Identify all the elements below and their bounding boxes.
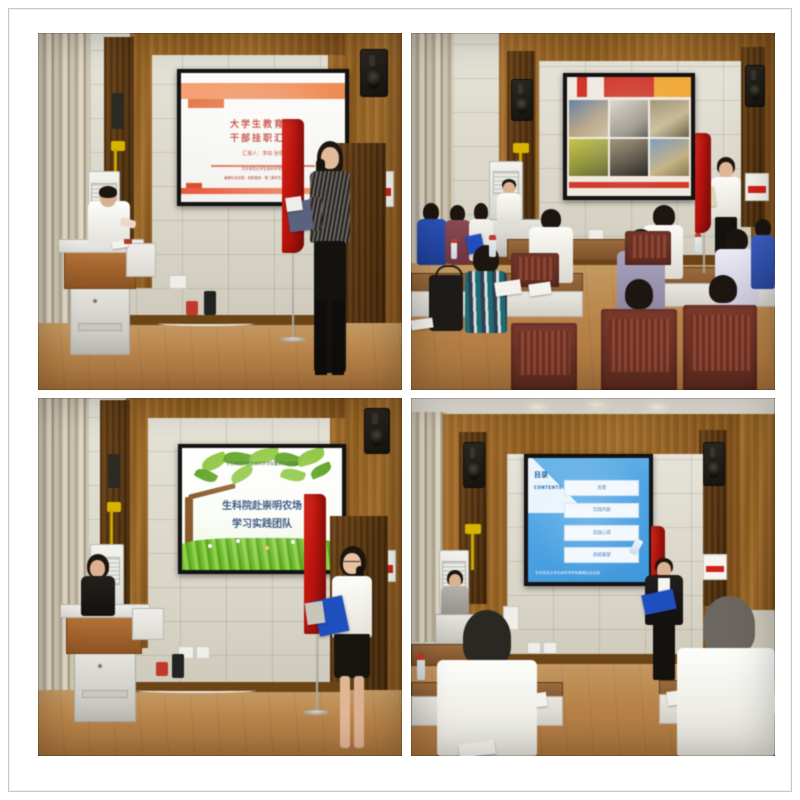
- slide-list-item: 总结展望: [564, 547, 639, 563]
- water-bottle: [417, 654, 425, 680]
- hair: [703, 596, 755, 654]
- slide-corner-line2: CONTENTS: [534, 485, 562, 490]
- skirt: [334, 634, 370, 678]
- slide-corner-line1: 目录: [534, 470, 548, 480]
- audience-member: [677, 596, 775, 756]
- chair: [625, 231, 671, 265]
- audience-member: [437, 610, 537, 756]
- notes: [305, 601, 326, 625]
- slide-bottom-right: 目录 CONTENTS 背景 实践内容 实践心得 总结展望 华东师范大学生命科学…: [528, 458, 649, 582]
- slide-photo: [569, 139, 607, 176]
- photo-bottom-left[interactable]: 华东师范大学生命科学学院暑期社会实践 生科院赴崇明农场 学习实践团队: [38, 398, 402, 756]
- slide-header-text: 华东师范大学生命科学学院暑期社会实践: [182, 461, 342, 467]
- chair: [511, 323, 577, 390]
- slide-photo: [650, 100, 688, 137]
- audience-member: [613, 279, 665, 325]
- wall-poster: [703, 554, 727, 580]
- audience-member: [697, 275, 749, 321]
- wall-socket: [169, 275, 187, 289]
- podium: [66, 612, 142, 654]
- wall-socket: [543, 642, 557, 654]
- scene-top-left: 大学生教育梦 干部挂职汇报 汇报人：李晓 张倩 华东师范大学生命科学学院 暑期社…: [38, 33, 402, 390]
- ceiling-light: [589, 402, 605, 407]
- water-bottle: [451, 239, 457, 259]
- slide-photo-grid: [569, 100, 688, 176]
- slide-top-right: [567, 77, 691, 196]
- ceiling-light: [649, 404, 665, 409]
- water-bottle: [489, 235, 496, 257]
- head: [90, 560, 105, 577]
- slide-list-item: 背景: [564, 480, 639, 496]
- slide-footer: 华东师范大学生命科学学院暑期社会实践: [535, 571, 600, 576]
- water-bottle: [695, 233, 701, 253]
- slide-logo-tag: [188, 99, 224, 108]
- torso: [677, 648, 775, 756]
- slide-title-line1: 大学生教育梦: [181, 117, 345, 130]
- slide-photo: [610, 139, 648, 176]
- person-presenter: [322, 546, 384, 756]
- podium-base: [74, 650, 136, 722]
- speaker-icon: [463, 442, 485, 488]
- ceiling-light: [529, 404, 545, 409]
- audience-member: [463, 245, 509, 350]
- collage-page: 大学生教育梦 干部挂职汇报 汇报人：李晓 张倩 华东师范大学生命科学学院 暑期社…: [0, 0, 800, 800]
- slide-list-item: 实践心得: [564, 525, 639, 541]
- podium-base: [70, 285, 130, 355]
- china-flag: [695, 133, 711, 233]
- wall-poster: [745, 173, 769, 201]
- hair: [99, 186, 117, 198]
- person-presenter: [300, 141, 362, 390]
- speaker-icon: [703, 442, 725, 486]
- slide-photo: [569, 100, 607, 137]
- photo-grid: 大学生教育梦 干部挂职汇报 汇报人：李晓 张倩 华东师范大学生命科学学院 暑期社…: [38, 33, 767, 765]
- audience-member: [417, 203, 447, 267]
- scene-bottom-left: 华东师范大学生命科学学院暑期社会实践 生科院赴崇明农场 学习实践团队: [38, 398, 402, 756]
- slide-header-band: [567, 77, 691, 97]
- person-presenter-back: [495, 179, 523, 227]
- wall-socket: [196, 646, 210, 659]
- slide-list-item: 实践内容: [564, 503, 639, 519]
- photo-top-left[interactable]: 大学生教育梦 干部挂职汇报 汇报人：李晓 张倩 华东师范大学生命科学学院 暑期社…: [38, 33, 402, 390]
- glasses-icon: [342, 561, 360, 566]
- projector-screen: 目录 CONTENTS 背景 实践内容 实践心得 总结展望 华东师范大学生命科学…: [524, 454, 653, 586]
- speaker-icon: [364, 408, 390, 454]
- photo-top-right[interactable]: [411, 33, 775, 390]
- projector-screen: [563, 73, 695, 200]
- slide-photo: [610, 100, 648, 137]
- photo-bottom-right[interactable]: 目录 CONTENTS 背景 实践内容 实践心得 总结展望 华东师范大学生命科学…: [411, 398, 775, 756]
- torso: [81, 576, 115, 616]
- speaker-icon: [745, 65, 765, 107]
- audience-member: [751, 219, 775, 291]
- scene-bottom-right: 目录 CONTENTS 背景 实践内容 实践心得 总结展望 华东师范大学生命科学…: [411, 398, 775, 756]
- hair: [463, 610, 511, 666]
- person-podium-operator: [78, 554, 118, 616]
- speaker-icon: [360, 49, 388, 97]
- slide-photo: [650, 139, 688, 176]
- scene-top-right: [411, 33, 775, 390]
